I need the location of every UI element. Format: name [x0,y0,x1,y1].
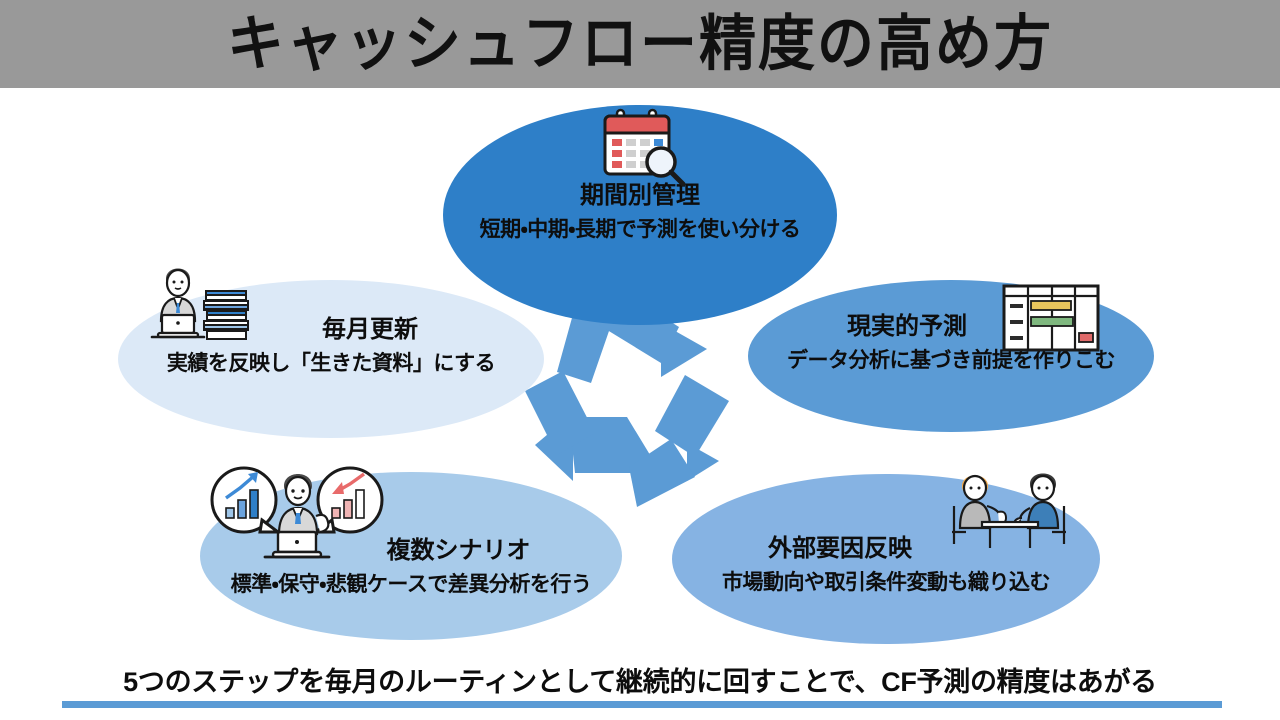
gantt-chart-icon [1000,282,1102,356]
calendar-search-icon [597,108,689,186]
person-scenario-charts-icon [210,458,390,568]
slide-canvas: キャッシュフロー精度の高め方 期間別管理 短期・中期・長期で予測を使い分ける 毎… [0,0,1280,720]
node-subtext: 市場動向や取引条件変動も織り込む [672,566,1100,596]
title-banner: キャッシュフロー精度の高め方 [0,0,1280,88]
node-subtext: 実績を反映し「生きた資料」にする [118,347,544,377]
footer-rule [62,701,1222,708]
two-people-meeting-icon [942,466,1074,556]
person-laptop-books-icon [148,255,258,347]
node-subtext: 標準・保守・悲観ケースで差異分析を行う [200,568,622,598]
node-subtext: 短期・中期・長期で予測を使い分ける [443,213,837,243]
footer: 5つのステップを毎月のルーティンとして継続的に回すことで、CF予測の精度はあがる [0,660,1280,699]
page-title: キャッシュフロー精度の高め方 [227,14,1053,74]
footer-text: 5つのステップを毎月のルーティンとして継続的に回すことで、CF予測の精度はあがる [0,660,1280,699]
